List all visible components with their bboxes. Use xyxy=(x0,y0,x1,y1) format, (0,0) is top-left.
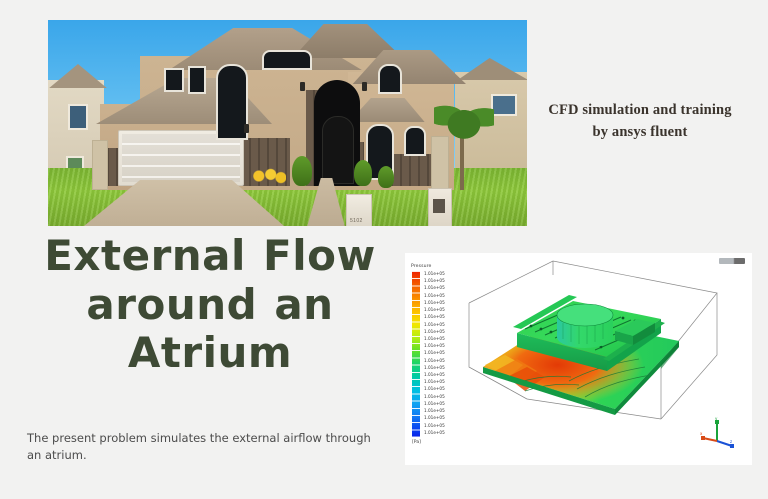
title-line-3: Atrium xyxy=(24,329,396,378)
wall-lamp-icon xyxy=(300,82,305,91)
cfd-contour-svg xyxy=(465,259,731,451)
title-line-2: around an xyxy=(24,281,396,330)
legend-tick-label: 1.01e+05 xyxy=(424,300,445,305)
front-door xyxy=(322,116,354,184)
page-title: External Flow around an Atrium xyxy=(24,232,396,378)
slide-canvas: 5102 CFD simulation and training by ansy… xyxy=(0,0,768,499)
title-line-1: External Flow xyxy=(24,232,396,281)
colorbar-ticks xyxy=(412,271,420,437)
legend-tick-label: 1.01e+05 xyxy=(424,386,445,391)
legend-tick-label: 1.01e+05 xyxy=(424,336,445,341)
address-pillar: 5102 xyxy=(346,194,372,226)
neighbor-left-window xyxy=(68,104,88,130)
caption-text: The present problem simulates the extern… xyxy=(27,430,375,465)
wall-lamp-icon xyxy=(362,82,367,91)
legend-tick-label: 1.01e+05 xyxy=(424,322,445,327)
coordinate-triad: y z x xyxy=(700,417,734,449)
flower-bed xyxy=(252,168,286,184)
legend-colorbar-body: 1.01e+051.01e+051.01e+051.01e+051.01e+05… xyxy=(411,271,457,437)
shrub xyxy=(354,160,372,186)
legend-tick-label: 1.01e+05 xyxy=(424,365,445,370)
legend-tick-label: 1.01e+05 xyxy=(424,307,445,312)
shrub xyxy=(292,156,312,186)
atrium-dome xyxy=(557,304,613,348)
window xyxy=(404,126,426,156)
legend-tick-label: 1.01e+05 xyxy=(424,285,445,290)
legend-tick-label: 1.01e+05 xyxy=(424,358,445,363)
legend-unit: [Pa] xyxy=(412,440,421,445)
neighbor-right-window xyxy=(491,94,517,116)
legend-tick-label: 1.01e+05 xyxy=(424,408,445,413)
legend-tick-label: 1.01e+05 xyxy=(424,415,445,420)
legend-tick-label: 1.01e+05 xyxy=(424,423,445,428)
legend-title: Pressure xyxy=(411,264,457,269)
flow-domain-view xyxy=(465,259,731,451)
window xyxy=(164,68,184,92)
mailbox xyxy=(428,188,452,226)
shrub xyxy=(378,166,394,188)
house-number: 5102 xyxy=(350,218,363,224)
subtitle-line-2: by ansys fluent xyxy=(528,121,752,143)
legend-tick-label: 1.01e+05 xyxy=(424,394,445,399)
legend-tick-label: 1.01e+05 xyxy=(424,271,445,276)
gable-window xyxy=(262,50,312,70)
window xyxy=(188,66,206,94)
side-fence xyxy=(92,140,108,190)
svg-text:x: x xyxy=(700,431,703,436)
wall-lamp-icon xyxy=(244,124,249,133)
legend-tick-label: 1.01e+05 xyxy=(424,372,445,377)
window xyxy=(378,64,402,94)
legend-tick-label: 1.01e+05 xyxy=(424,314,445,319)
svg-text:z: z xyxy=(730,439,732,444)
legend-tick-label: 1.01e+05 xyxy=(424,278,445,283)
cfd-result-image: Pressure 1.01e+051.01e+051.01e+051.01e+0… xyxy=(405,253,752,465)
legend-tick-label: 1.01e+05 xyxy=(424,329,445,334)
legend-tick-label: 1.01e+05 xyxy=(424,379,445,384)
legend-tick-label: 1.01e+05 xyxy=(424,401,445,406)
pressure-legend: Pressure 1.01e+051.01e+051.01e+051.01e+0… xyxy=(411,264,457,454)
subtitle-line-1: CFD simulation and training xyxy=(528,99,752,121)
side-fence xyxy=(431,136,449,192)
legend-tick-label: 1.01e+05 xyxy=(424,343,445,348)
legend-tick-label: 1.01e+05 xyxy=(424,430,445,435)
subtitle: CFD simulation and training by ansys flu… xyxy=(528,99,752,144)
house-photo: 5102 xyxy=(48,20,527,226)
legend-tick-label: 1.01e+05 xyxy=(424,350,445,355)
legend-tick-label: 1.01e+05 xyxy=(424,293,445,298)
